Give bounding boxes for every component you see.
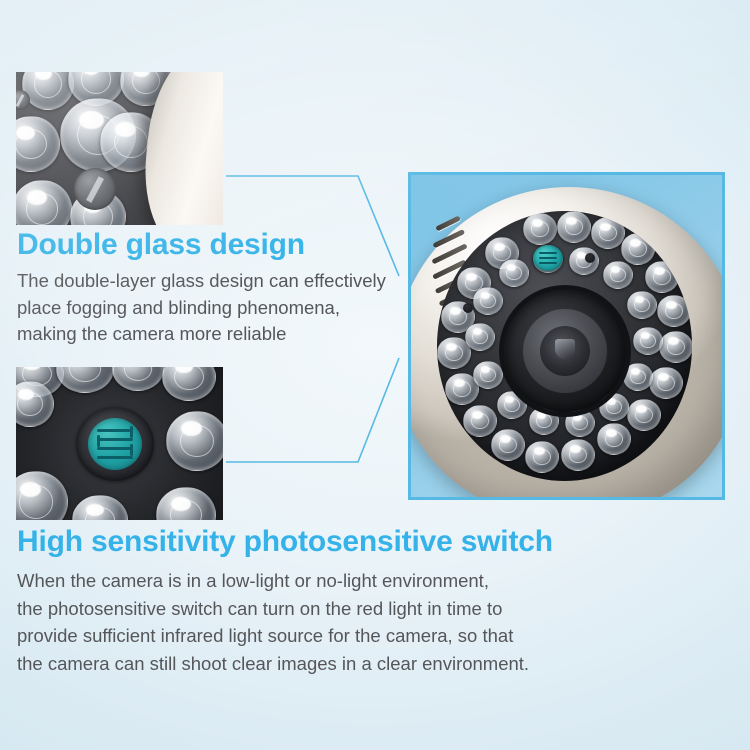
led-lens (657, 295, 691, 327)
section-photosensitive-switch: High sensitivity photosensitive switch W… (17, 525, 587, 677)
connector-bottom-line (226, 358, 399, 462)
led-board-surface (16, 72, 223, 225)
led-lens (523, 213, 557, 245)
led-lens (166, 411, 223, 471)
led-lens (499, 259, 529, 287)
ldr-photoresistor (88, 418, 142, 470)
led-lens (603, 261, 633, 289)
body-double-glass: The double-layer glass design can effect… (17, 268, 409, 348)
body-photosensitive-switch: When the camera is in a low-light or no-… (17, 567, 587, 677)
camera-lens (504, 290, 626, 412)
section-double-glass: Double glass design The double-layer gla… (17, 228, 409, 348)
led-lens (16, 471, 68, 520)
photo-ldr-closeup (16, 367, 223, 520)
led-lens (623, 363, 653, 391)
heading-photosensitive-switch: High sensitivity photosensitive switch (17, 525, 587, 559)
led-lens (72, 495, 128, 520)
ldr-socket (76, 407, 154, 481)
led-lens (473, 287, 503, 315)
camera-lens-barrel (523, 309, 607, 393)
photo-led-closeup (16, 72, 223, 225)
board-hole (463, 303, 473, 313)
camera-led-board (437, 211, 692, 481)
led-lens (659, 331, 692, 363)
led-lens (557, 211, 591, 243)
led-lens (473, 361, 503, 389)
ldr-board-surface (16, 367, 223, 520)
board-screw (74, 168, 116, 210)
led-lens (597, 423, 631, 455)
led-lens (112, 367, 164, 391)
board-hole (585, 253, 595, 263)
led-lens (561, 439, 595, 471)
led-lens (633, 327, 663, 355)
led-lens (649, 367, 683, 399)
led-lens (491, 429, 525, 461)
camera-lens-reflection (555, 339, 575, 359)
led-lens (591, 217, 625, 249)
led-lens (621, 233, 655, 265)
led-lens (569, 247, 599, 275)
infographic-stage: Double glass design The double-layer gla… (0, 0, 750, 750)
led-lens (465, 323, 495, 351)
led-lens (645, 261, 679, 293)
led-lens (162, 367, 216, 401)
led-lens (56, 367, 114, 393)
ldr-serpentine-track (97, 429, 133, 460)
led-lens (525, 441, 559, 473)
led-lens (627, 291, 657, 319)
camera-dome-housing (411, 187, 722, 497)
led-lens (627, 399, 661, 431)
led-lens (565, 409, 595, 437)
camera-lens-glass (540, 326, 590, 376)
led-lens (156, 487, 216, 520)
heading-double-glass: Double glass design (17, 228, 409, 262)
photosensitive-switch-sensor (533, 245, 563, 271)
photo-camera-front (408, 172, 725, 500)
led-lens (463, 405, 497, 437)
